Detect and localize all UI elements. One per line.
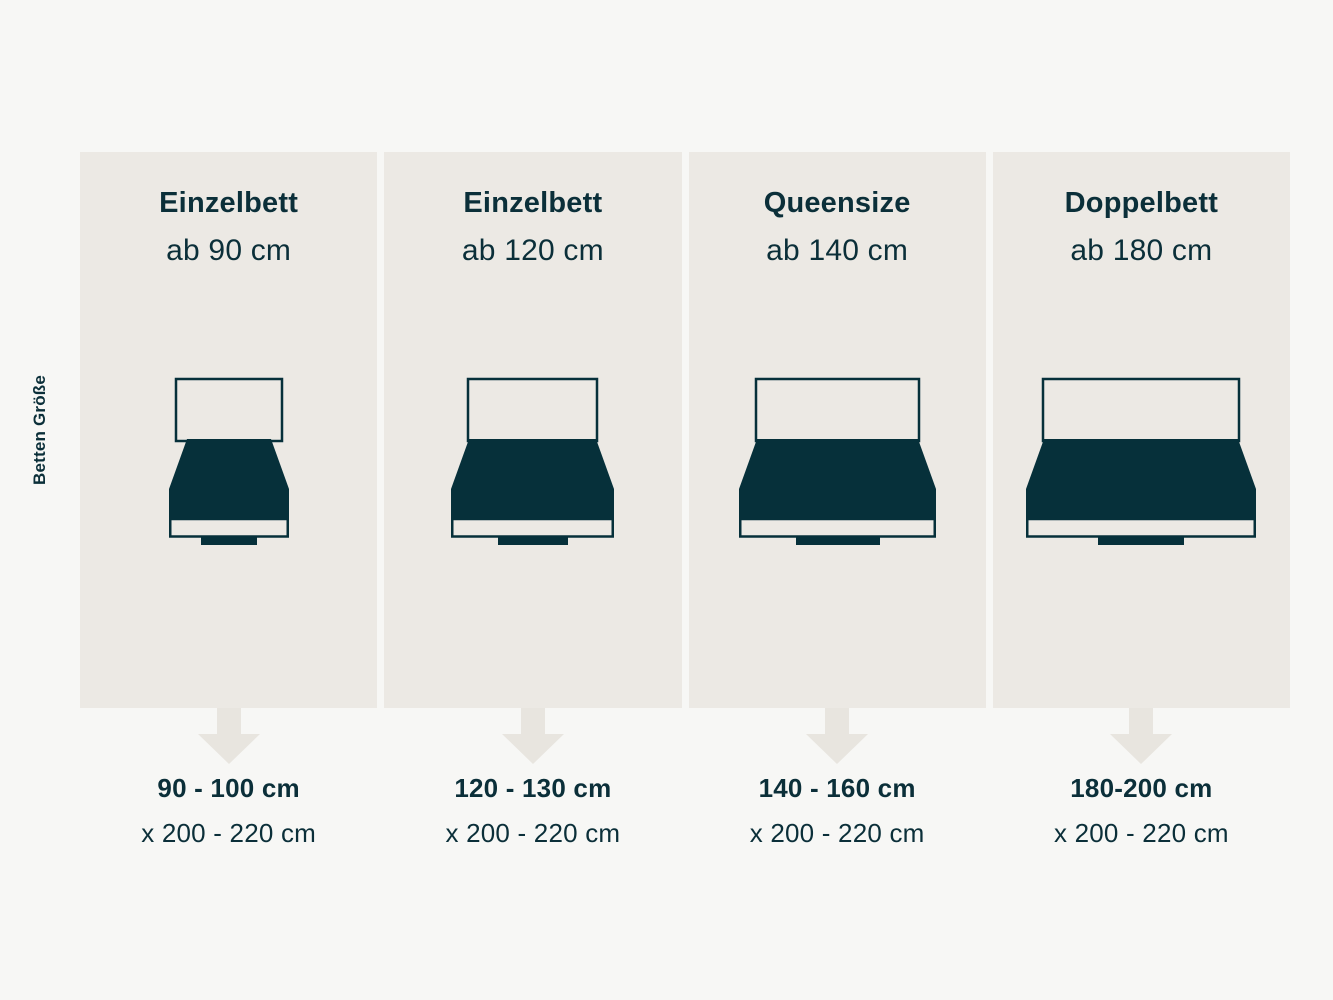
panel-subtitle: ab 140 cm bbox=[689, 236, 986, 266]
bed-illustration-container bbox=[993, 367, 1290, 552]
bed-illustration-container bbox=[689, 367, 986, 552]
caption-einzelbett-120: 120 - 130 cm x 200 - 220 cm bbox=[384, 775, 681, 885]
panel-doppelbett-180: Doppelbett ab 180 cm bbox=[993, 152, 1290, 708]
arrow-down-icon bbox=[502, 708, 564, 764]
arrow-down-icon bbox=[806, 708, 868, 764]
bed-icon bbox=[998, 367, 1284, 547]
panel-title: Einzelbett bbox=[384, 189, 681, 218]
caption-doppelbett-180: 180-200 cm x 200 - 220 cm bbox=[993, 775, 1290, 885]
bed-icon bbox=[711, 367, 964, 547]
axis-label-betten-groesse: Betten Größe bbox=[0, 330, 80, 530]
caption-sub: x 200 - 220 cm bbox=[689, 820, 986, 846]
bed-illustration-container bbox=[80, 367, 377, 552]
panel-heading: Einzelbett ab 120 cm bbox=[384, 189, 681, 266]
panel-subtitle: ab 180 cm bbox=[993, 236, 1290, 266]
caption-queensize-140: 140 - 160 cm x 200 - 220 cm bbox=[689, 775, 986, 885]
caption-main: 90 - 100 cm bbox=[80, 775, 377, 801]
arrow-cell bbox=[993, 708, 1290, 768]
bed-sizes-infographic: Betten Größe Einzelbett ab 90 cm bbox=[0, 0, 1333, 1000]
arrow-cell bbox=[80, 708, 377, 768]
panel-einzelbett-120: Einzelbett ab 120 cm bbox=[384, 152, 681, 708]
caption-sub: x 200 - 220 cm bbox=[80, 820, 377, 846]
arrow-cell bbox=[384, 708, 681, 768]
caption-sub: x 200 - 220 cm bbox=[384, 820, 681, 846]
caption-main: 140 - 160 cm bbox=[689, 775, 986, 801]
panel-einzelbett-90: Einzelbett ab 90 cm bbox=[80, 152, 377, 708]
caption-main: 180-200 cm bbox=[993, 775, 1290, 801]
panel-heading: Queensize ab 140 cm bbox=[689, 189, 986, 266]
arrow-down-icon bbox=[198, 708, 260, 764]
bed-icon bbox=[423, 367, 642, 547]
arrow-row bbox=[80, 708, 1290, 768]
panel-title: Doppelbett bbox=[993, 189, 1290, 218]
panel-heading: Doppelbett ab 180 cm bbox=[993, 189, 1290, 266]
axis-label-text: Betten Größe bbox=[30, 375, 50, 485]
caption-einzelbett-90: 90 - 100 cm x 200 - 220 cm bbox=[80, 775, 377, 885]
bed-illustration-container bbox=[384, 367, 681, 552]
caption-row: 90 - 100 cm x 200 - 220 cm 120 - 130 cm … bbox=[80, 775, 1290, 885]
arrow-down-icon bbox=[1110, 708, 1172, 764]
panel-subtitle: ab 90 cm bbox=[80, 236, 377, 266]
panel-title: Queensize bbox=[689, 189, 986, 218]
panel-queensize-140: Queensize ab 140 cm bbox=[689, 152, 986, 708]
panel-row: Einzelbett ab 90 cm Einzelbett ab 120 cm bbox=[80, 152, 1290, 708]
caption-sub: x 200 - 220 cm bbox=[993, 820, 1290, 846]
bed-icon bbox=[141, 367, 317, 547]
panel-subtitle: ab 120 cm bbox=[384, 236, 681, 266]
caption-main: 120 - 130 cm bbox=[384, 775, 681, 801]
panel-heading: Einzelbett ab 90 cm bbox=[80, 189, 377, 266]
panel-title: Einzelbett bbox=[80, 189, 377, 218]
arrow-cell bbox=[689, 708, 986, 768]
